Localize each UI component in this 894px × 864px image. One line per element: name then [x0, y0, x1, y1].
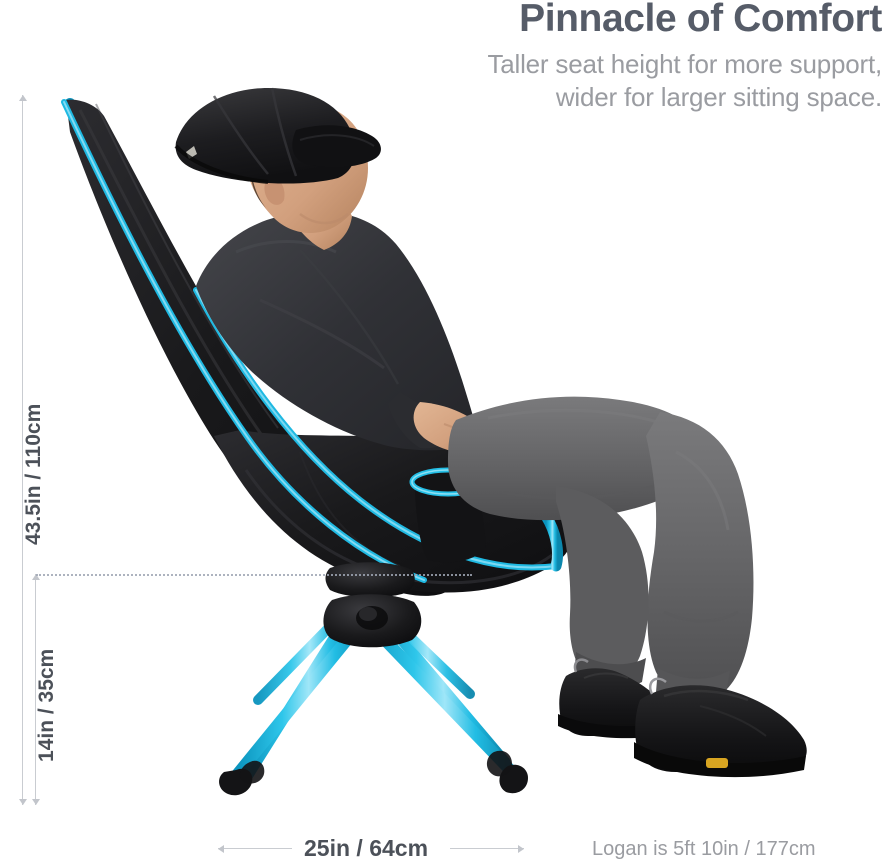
model-height-note: Logan is 5ft 10in / 177cm — [592, 838, 815, 861]
arrow-right-icon — [518, 845, 524, 853]
arrow-down-icon — [32, 799, 40, 805]
subtitle-line-1: Taller seat height for more support, — [322, 48, 882, 81]
subtitle-line-2: wider for larger sitting space. — [322, 81, 882, 114]
seat-height-guide-line — [36, 574, 472, 576]
chair-leg-assembly — [236, 562, 514, 776]
arrow-up-icon — [19, 95, 27, 101]
shoe-front — [634, 679, 807, 777]
vibram-tab — [706, 758, 728, 768]
back-height-label: 43.5in / 110cm — [22, 404, 46, 545]
product-photo — [0, 0, 894, 864]
page-title: Pinnacle of Comfort — [342, 0, 882, 40]
page-subtitle: Taller seat height for more support, wid… — [322, 48, 882, 115]
chair-and-model-illustration — [0, 0, 894, 864]
width-measure-line-left — [218, 848, 292, 849]
width-label: 25in / 64cm — [304, 835, 428, 862]
arrow-left-icon — [218, 845, 224, 853]
seat-height-label: 14in / 35cm — [35, 649, 59, 762]
foot-rear-right — [487, 751, 512, 777]
width-measure-line-right — [450, 848, 524, 849]
product-infographic: Pinnacle of Comfort Taller seat height f… — [0, 0, 894, 864]
seat-mount-bracket — [326, 562, 415, 597]
arrow-down-icon — [19, 799, 27, 805]
